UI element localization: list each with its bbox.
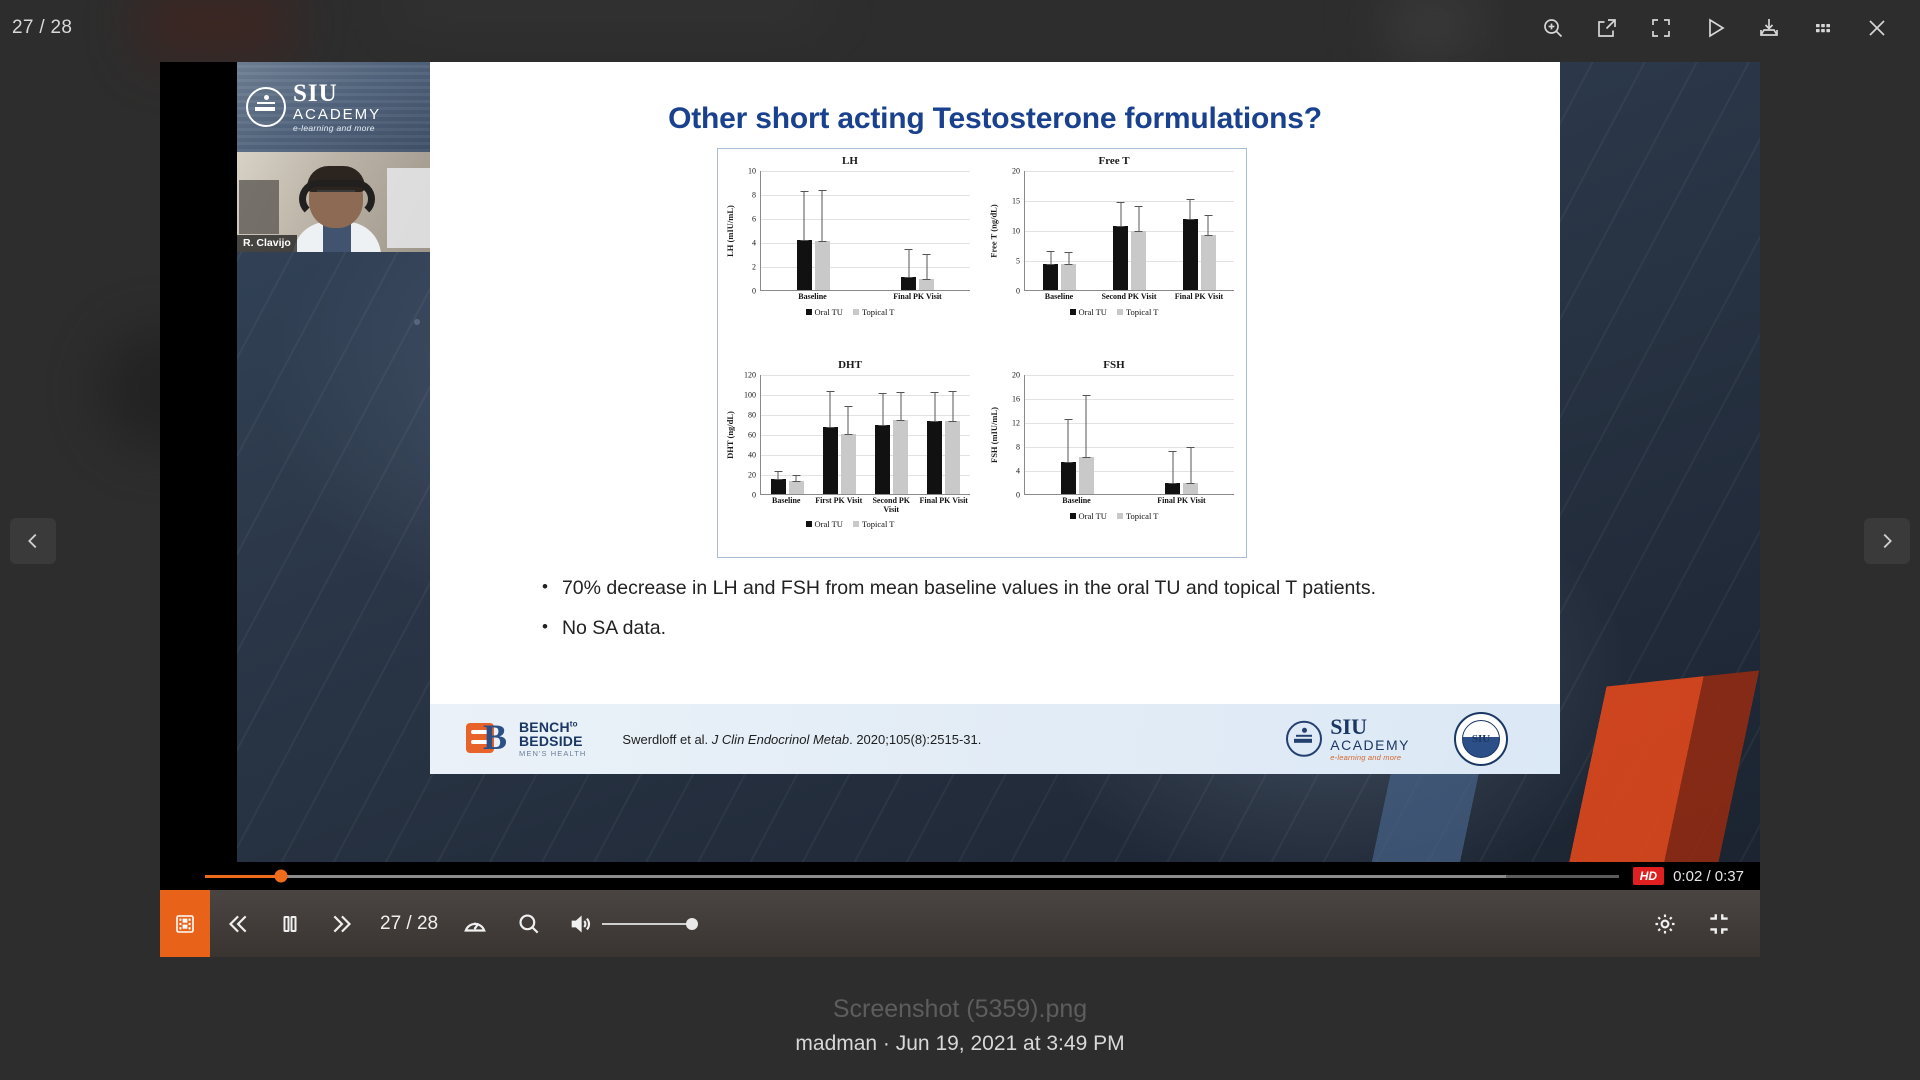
bar [875,425,890,494]
presenter-panel: SIU ACADEMY e-learning and more [237,62,437,890]
legend-entry: Oral TU [1070,307,1107,317]
legend-label: Topical T [1126,307,1159,317]
list-item: • No SA data. [542,617,1482,640]
webcam-headphones [299,180,375,218]
bullet-text: 70% decrease in LH and FSH from mean bas… [562,577,1376,600]
y-axis-label: DHT (ng/dL) [724,375,736,495]
bar [1113,226,1128,290]
slide-title: Other short acting Testosterone formulat… [430,102,1560,136]
error-bar [1208,215,1209,235]
legend-swatch [1070,309,1076,315]
volume-icon[interactable] [566,890,602,957]
chart-legend: Oral TUTopical T [722,519,978,529]
speed-button[interactable] [448,890,502,957]
error-bar [1120,202,1121,227]
hd-badge: HD [1633,867,1664,885]
bar-groups [761,171,970,290]
toolbar-actions [1504,0,1920,55]
error-bar [1190,199,1191,220]
y-axis-label: FSH (mIU/mL) [988,375,1000,495]
b2b-line2: BEDSIDE [519,734,586,748]
bar [1165,483,1180,494]
error-bar [926,254,927,280]
chart-lh: LHLH (mIU/mL)0246810BaselineFinal PK Vis… [718,149,982,353]
bar [1131,231,1146,290]
bar [789,481,804,494]
legend-label: Oral TU [1079,511,1107,521]
bar [1183,483,1198,494]
volume-control[interactable] [556,890,692,957]
chart-legend: Oral TUTopical T [986,307,1242,317]
chart-plot-area: LH (mIU/mL)0246810 [722,171,978,291]
x-tick-label: Baseline [760,293,865,302]
x-axis-line [761,494,970,495]
player-controls: 27 / 28 [160,890,1760,957]
legend-swatch [853,309,859,315]
bar-group [761,171,866,290]
chart-fsh: FSHFSH (mIU/mL)048121620BaselineFinal PK… [982,353,1246,557]
top-toolbar: 27 / 28 [0,0,1920,55]
b2b-logo-mark: B [466,719,512,759]
volume-slider[interactable] [602,923,692,925]
slide-bullets: • 70% decrease in LH and FSH from mean b… [542,577,1482,657]
chart-bars [1024,171,1234,291]
error-bar [796,475,797,482]
grid-icon[interactable] [1796,0,1850,55]
y-axis-ticks: 020406080100120 [736,375,758,495]
y-axis-ticks: 048121620 [1000,375,1022,495]
x-tick-label: Final PK Visit [865,293,970,302]
siu-footer-line1: SIU [1330,716,1410,738]
error-bar [1138,206,1139,231]
error-bar [822,190,823,242]
error-bar [1050,251,1051,264]
legend-entry: Topical T [1117,511,1159,521]
bullet-text: No SA data. [562,617,666,640]
error-bar [848,406,849,435]
legend-swatch [853,521,859,527]
presenter-panel-filler [237,252,437,890]
bar-group [1025,171,1095,290]
x-axis-tick-labels: BaselineFirst PK VisitSecond PK VisitFin… [760,497,970,514]
x-axis-tick-labels: BaselineFinal PK Visit [1024,497,1234,506]
error-bar [1068,419,1069,463]
bar-groups [1025,375,1234,494]
webcam-person [293,166,381,252]
pause-button[interactable] [264,890,316,957]
bullet-dot: • [542,577,548,600]
x-tick-label: Second PK Visit [865,497,918,514]
legend-label: Topical T [862,307,895,317]
x-tick-label: Baseline [760,497,813,514]
y-axis-ticks: 05101520 [1000,171,1022,291]
bar-groups [1025,171,1234,290]
presenter-webcam: R. Clavijo [237,152,437,252]
bar-group [761,375,813,494]
chart-plot-area: Free T (ng/dL)05101520 [986,171,1242,291]
x-tick-label: Baseline [1024,293,1094,302]
bench-to-bedside-logo: B BENCHto BEDSIDE MEN'S HEALTH [466,719,586,759]
close-icon[interactable] [1850,0,1904,55]
seek-buffer [281,875,1505,878]
item-counter: 27 / 28 [12,17,72,39]
next-item-button[interactable] [1864,518,1910,564]
vitruvian-man-icon [1286,721,1322,757]
legend-swatch [1117,513,1123,519]
bar [1061,264,1076,290]
file-name-label: Screenshot (5359).png [0,995,1920,1024]
siu-seal-text: SIU [1462,720,1500,758]
siu-seal-logo: SIU [1454,712,1508,766]
zoom-in-icon[interactable] [1526,0,1580,55]
controls-right-group [1638,890,1760,957]
error-bar [778,471,779,480]
bar-group [866,171,971,290]
chart-bars [760,171,970,291]
bullet-dot: • [542,617,548,640]
y-axis-label: Free T (ng/dL) [988,171,1000,291]
error-bar [908,249,909,278]
file-meta-label: madman · Jun 19, 2021 at 3:49 PM [0,1032,1920,1056]
legend-entry: Oral TU [1070,511,1107,521]
open-external-icon[interactable] [1580,0,1634,55]
chart-title: Free T [986,155,1242,167]
list-item: • 70% decrease in LH and FSH from mean b… [542,577,1482,600]
forward-button[interactable] [316,890,370,957]
download-icon[interactable] [1742,0,1796,55]
chart-free-t: Free TFree T (ng/dL)05101520BaselineSeco… [982,149,1246,353]
legend-label: Oral TU [815,307,843,317]
bar-group [1164,171,1234,290]
chart-grid: LHLH (mIU/mL)0246810BaselineFinal PK Vis… [718,149,1246,557]
previous-item-button[interactable] [10,518,56,564]
x-axis-tick-labels: BaselineFinal PK Visit [760,293,970,302]
chart-legend: Oral TUTopical T [722,307,978,317]
siu-footer-line3: e-learning and more [1330,753,1410,762]
legend-label: Oral TU [1079,307,1107,317]
citation-text: Swerdloff et al. J Clin Endocrinol Metab… [622,732,981,747]
bar [1061,462,1076,494]
chart-dht: DHTDHT (ng/dL)020406080100120BaselineFir… [718,353,982,557]
x-axis-line [1025,494,1234,495]
legend-label: Oral TU [815,519,843,529]
bar-group [1130,375,1235,494]
legend-entry: Oral TU [806,307,843,317]
bar [823,427,838,494]
legend-label: Topical T [862,519,895,529]
siu-brand-line2: ACADEMY [293,107,381,122]
search-button[interactable] [502,890,556,957]
b2b-line3: MEN'S HEALTH [519,750,586,758]
x-axis-line [761,290,970,291]
siu-brand-line1: SIU [293,81,381,106]
rewind-button[interactable] [210,890,264,957]
error-bar [1172,451,1173,485]
video-player: SIU ACADEMY e-learning and more [160,62,1760,957]
chart-bars [760,375,970,495]
x-tick-label: Second PK Visit [1094,293,1164,302]
b2b-line1: BENCHto [519,720,586,734]
video-stage[interactable]: SIU ACADEMY e-learning and more [160,62,1760,890]
siu-brand-tagline: e-learning and more [293,124,381,133]
play-icon[interactable] [1688,0,1742,55]
error-bar [882,393,883,426]
chart-legend: Oral TUTopical T [986,511,1242,521]
error-bar [830,391,831,428]
bar-group [866,375,918,494]
bar [815,241,830,290]
exit-fullscreen-button[interactable] [1692,890,1746,957]
bar [901,277,916,290]
bar [1043,264,1058,290]
chart-plot-area: DHT (ng/dL)020406080100120 [722,375,978,495]
x-tick-label: Final PK Visit [1129,497,1234,506]
volume-handle[interactable] [686,918,698,930]
webcam-shirt [323,224,351,252]
bar [893,420,908,494]
fullscreen-icon[interactable] [1634,0,1688,55]
legend-swatch [1117,309,1123,315]
chart-title: DHT [722,359,978,371]
bar-group [1095,171,1165,290]
bar [841,434,856,494]
error-bar [1190,447,1191,484]
time-display: 0:02 / 0:37 [1673,868,1744,885]
bar [919,279,934,290]
error-bar [900,392,901,421]
chart-title: LH [722,155,978,167]
y-axis-ticks: 0246810 [736,171,758,291]
chart-plot-area: FSH (mIU/mL)048121620 [986,375,1242,495]
x-tick-label: Final PK Visit [918,497,971,514]
bar [945,421,960,494]
x-tick-label: First PK Visit [813,497,866,514]
figure-panel: LHLH (mIU/mL)0246810BaselineFinal PK Vis… [717,148,1247,558]
bar [1183,219,1198,290]
siu-academy-banner: SIU ACADEMY e-learning and more [237,62,437,152]
x-tick-label: Baseline [1024,497,1129,506]
webcam-desk-object [239,180,279,234]
webcam-coat-rack [387,168,431,248]
x-tick-label: Final PK Visit [1164,293,1234,302]
bar [927,421,942,494]
presenter-name-label: R. Clavijo [237,235,297,252]
bar-groups [761,375,970,494]
legend-swatch [806,521,812,527]
media-viewer-page: 27 / 28 [0,0,1920,1080]
x-axis-line [1025,290,1234,291]
error-bar [952,391,953,422]
error-bar [934,392,935,422]
slide-counter: 27 / 28 [370,913,448,935]
chart-title: FSH [986,359,1242,371]
siu-footer-line2: ACADEMY [1330,738,1410,753]
legend-label: Topical T [1126,511,1159,521]
legend-swatch [1070,513,1076,519]
bar-group [918,375,970,494]
slide-footer: B BENCHto BEDSIDE MEN'S HEALTH Swerdloff… [430,704,1560,774]
error-bar [1068,252,1069,265]
slide-content: Other short acting Testosterone formulat… [430,62,1560,774]
bar [771,479,786,494]
bar-group [1025,375,1130,494]
legend-entry: Oral TU [806,519,843,529]
bar-group [813,375,865,494]
settings-button[interactable] [1638,890,1692,957]
legend-entry: Topical T [853,519,895,529]
bar [1201,235,1216,290]
legend-swatch [806,309,812,315]
legend-entry: Topical T [1117,307,1159,317]
legend-entry: Topical T [853,307,895,317]
bar [797,240,812,290]
filmstrip-button[interactable] [160,890,210,957]
bar [1079,457,1094,494]
error-bar [804,191,805,240]
x-axis-tick-labels: BaselineSecond PK VisitFinal PK Visit [1024,293,1234,302]
vitruvian-man-icon [246,87,286,127]
siu-academy-footer-logo: SIU ACADEMY e-learning and more [1286,716,1410,762]
error-bar [1086,395,1087,458]
y-axis-label: LH (mIU/mL) [724,171,736,291]
chart-bars [1024,375,1234,495]
